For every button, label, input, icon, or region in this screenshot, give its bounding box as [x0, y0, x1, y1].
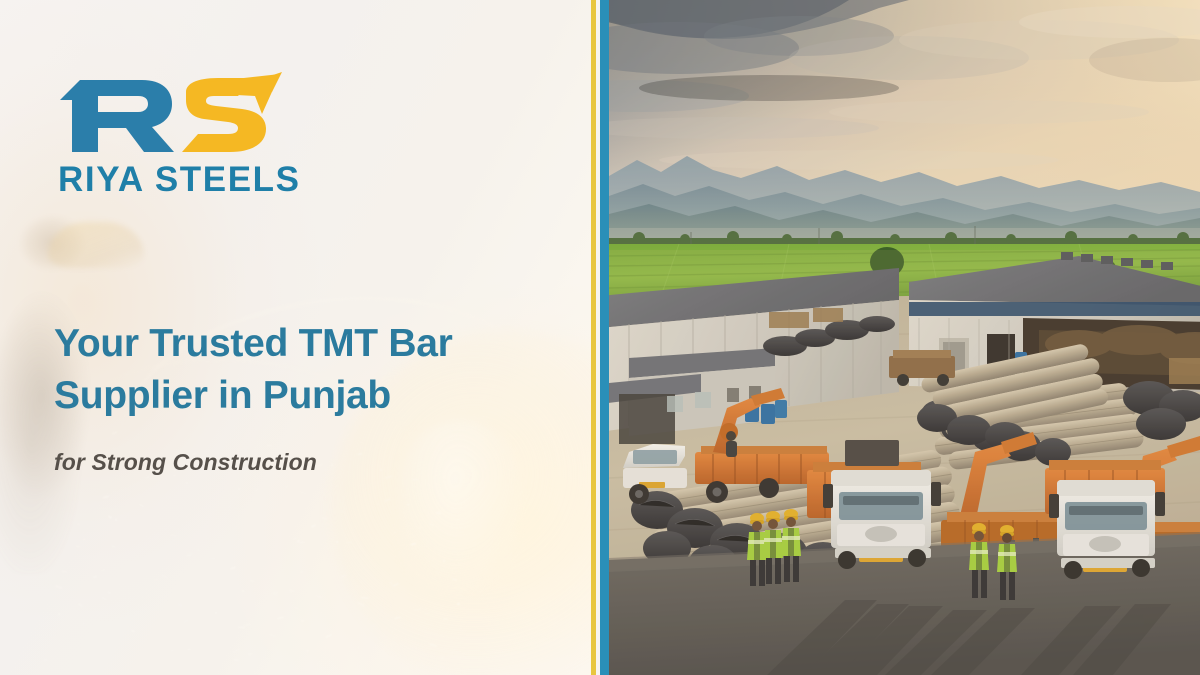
left-content-panel: RIYA STEELS Your Trusted TMT Bar Supplie…: [0, 0, 591, 675]
hero-photo: [609, 0, 1200, 675]
brand-logo[interactable]: RIYA STEELS: [58, 72, 318, 197]
headline-line-1: Your Trusted TMT Bar: [54, 318, 534, 370]
hero-subheadline: for Strong Construction: [54, 449, 534, 476]
hero-banner: RIYA STEELS Your Trusted TMT Bar Supplie…: [0, 0, 1200, 675]
panel-divider: [591, 0, 609, 675]
brand-wordmark: RIYA STEELS: [58, 162, 318, 197]
ghost-hardhat-shape: [48, 222, 144, 268]
divider-stripe-blue: [600, 0, 609, 675]
hero-copy: Your Trusted TMT Bar Supplier in Punjab …: [54, 318, 534, 476]
hero-headline: Your Trusted TMT Bar Supplier in Punjab: [54, 318, 534, 422]
steel-yard-illustration: [609, 0, 1200, 675]
rs-monogram-with-arrow-icon: [58, 72, 290, 154]
headline-line-2: Supplier in Punjab: [54, 370, 534, 422]
